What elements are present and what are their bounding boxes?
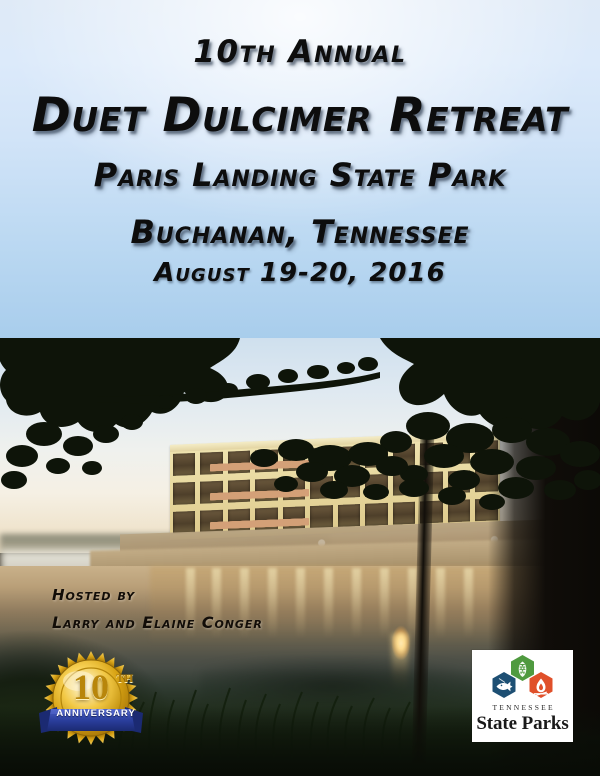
seal-ordinal: TH (116, 671, 133, 686)
campfire-hexagon (530, 672, 553, 698)
logo-brand-name: State Parks (472, 713, 573, 735)
event-flyer: 10th Annual Duet Dulcimer Retreat Paris … (0, 0, 600, 776)
venue-location: Buchanan, Tennessee (0, 213, 600, 251)
host-names: Larry and Elaine Conger (52, 613, 263, 632)
flyer-header: 10th Annual Duet Dulcimer Retreat Paris … (0, 0, 600, 340)
tennessee-state-parks-logo: TENNESSEE State Parks (472, 650, 573, 742)
edition-label: 10th Annual (0, 34, 600, 70)
fish-hexagon (493, 672, 516, 698)
venue-name: Paris Landing State Park (0, 156, 600, 194)
pinecone-hexagon (511, 655, 534, 681)
event-title: Duet Dulcimer Retreat (0, 88, 600, 143)
event-dates: August 19-20, 2016 (0, 258, 600, 288)
state-parks-hexagons-icon (472, 654, 573, 700)
hosted-by-label: Hosted by (52, 586, 135, 604)
seal-ribbon-text: ANNIVERSARY (37, 708, 155, 719)
logo-state-name: TENNESSEE (472, 703, 573, 712)
anniversary-seal: 10 TH ANNIVERSARY (37, 647, 155, 755)
